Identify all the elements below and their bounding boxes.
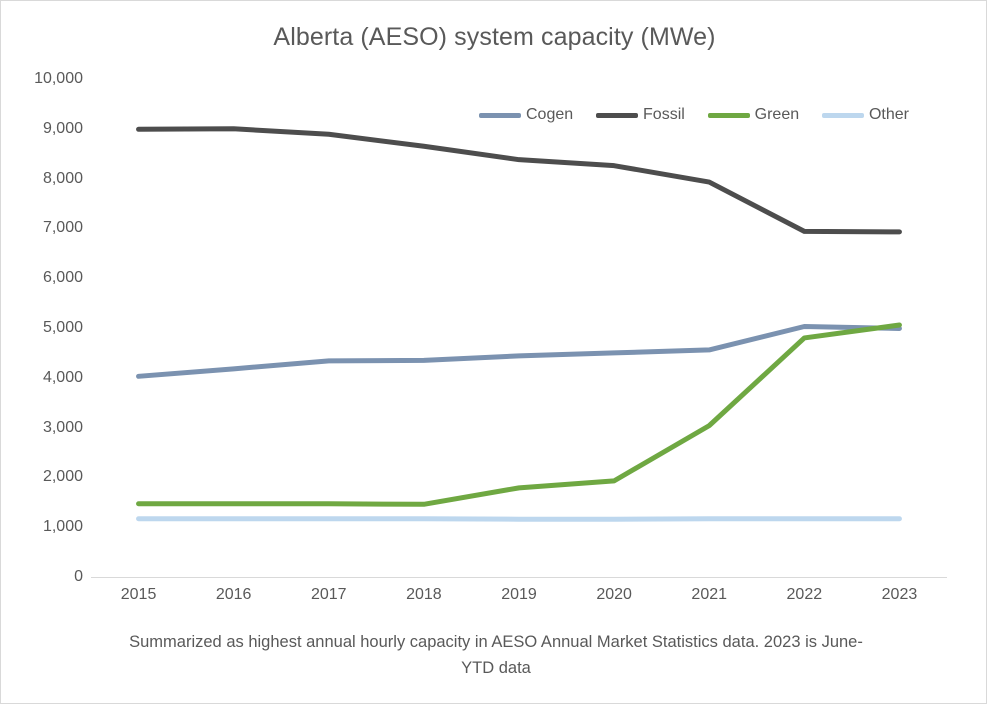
y-axis-tick-label: 10,000: [1, 70, 83, 88]
x-axis-line: [91, 577, 947, 578]
x-axis-tick-label: 2017: [311, 586, 347, 604]
y-axis-tick-label: 0: [1, 568, 83, 586]
x-axis-tick-label: 2019: [501, 586, 537, 604]
x-axis-tick-label: 2018: [406, 586, 442, 604]
series-line-cogen: [139, 327, 900, 377]
x-axis-tick-label: 2022: [787, 586, 823, 604]
series-line-fossil: [139, 129, 900, 232]
y-axis-tick-label: 5,000: [1, 319, 83, 337]
chart-container: Alberta (AESO) system capacity (MWe) Cog…: [0, 0, 987, 704]
y-axis-tick-label: 1,000: [1, 518, 83, 536]
y-axis-tick-label: 4,000: [1, 369, 83, 387]
x-axis-tick-label: 2023: [882, 586, 918, 604]
y-axis-tick-label: 2,000: [1, 468, 83, 486]
y-axis-tick-label: 8,000: [1, 170, 83, 188]
x-axis-tick-label: 2021: [691, 586, 727, 604]
x-axis-tick-label: 2015: [121, 586, 157, 604]
y-axis-tick-label: 3,000: [1, 419, 83, 437]
y-axis-tick-label: 7,000: [1, 219, 83, 237]
plot-area: [91, 79, 947, 577]
chart-caption: Summarized as highest annual hourly capa…: [121, 629, 871, 681]
y-axis: 10,0009,0008,0007,0006,0005,0004,0003,00…: [1, 1, 83, 704]
chart-title: Alberta (AESO) system capacity (MWe): [1, 23, 987, 52]
x-axis-tick-label: 2016: [216, 586, 252, 604]
x-axis-tick-label: 2020: [596, 586, 632, 604]
y-axis-tick-label: 9,000: [1, 120, 83, 138]
y-axis-tick-label: 6,000: [1, 269, 83, 287]
series-line-green: [139, 325, 900, 504]
plot-svg: [91, 79, 947, 577]
x-axis: 201520162017201820192020202120222023: [91, 586, 947, 610]
